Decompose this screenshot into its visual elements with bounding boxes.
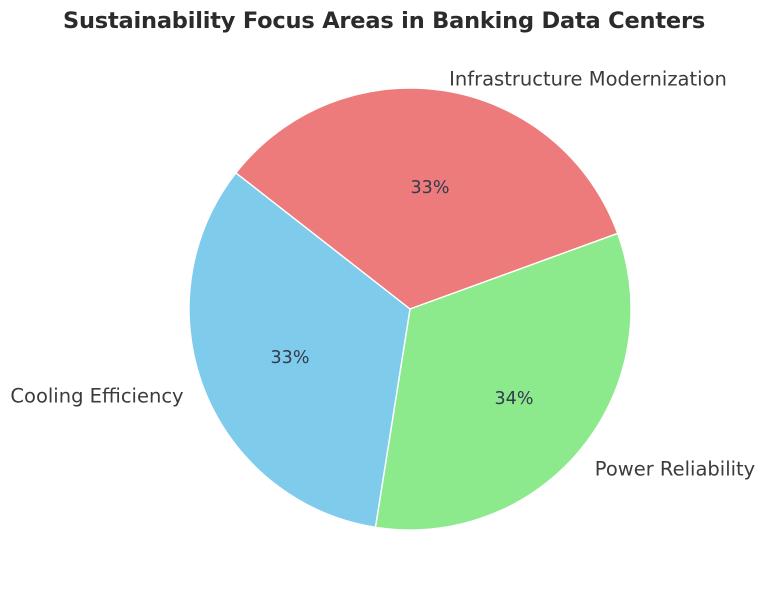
pie-chart-canvas: 33%34%33% Infrastructure ModernizationPo… bbox=[0, 0, 768, 594]
pie-percent-label-cooling-efficiency: 33% bbox=[271, 348, 310, 368]
pie-category-label-cooling-efficiency: Cooling Efficiency bbox=[10, 385, 183, 408]
chart-figure: Sustainability Focus Areas in Banking Da… bbox=[0, 0, 768, 594]
pie-percent-label-power-reliability: 34% bbox=[495, 389, 534, 409]
pie-category-label-power-reliability: Power Reliability bbox=[595, 458, 755, 481]
pie-category-label-infrastructure-modernization: Infrastructure Modernization bbox=[449, 68, 727, 91]
pie-percent-label-infrastructure-modernization: 33% bbox=[411, 178, 450, 198]
pie-slices-group bbox=[189, 88, 631, 530]
